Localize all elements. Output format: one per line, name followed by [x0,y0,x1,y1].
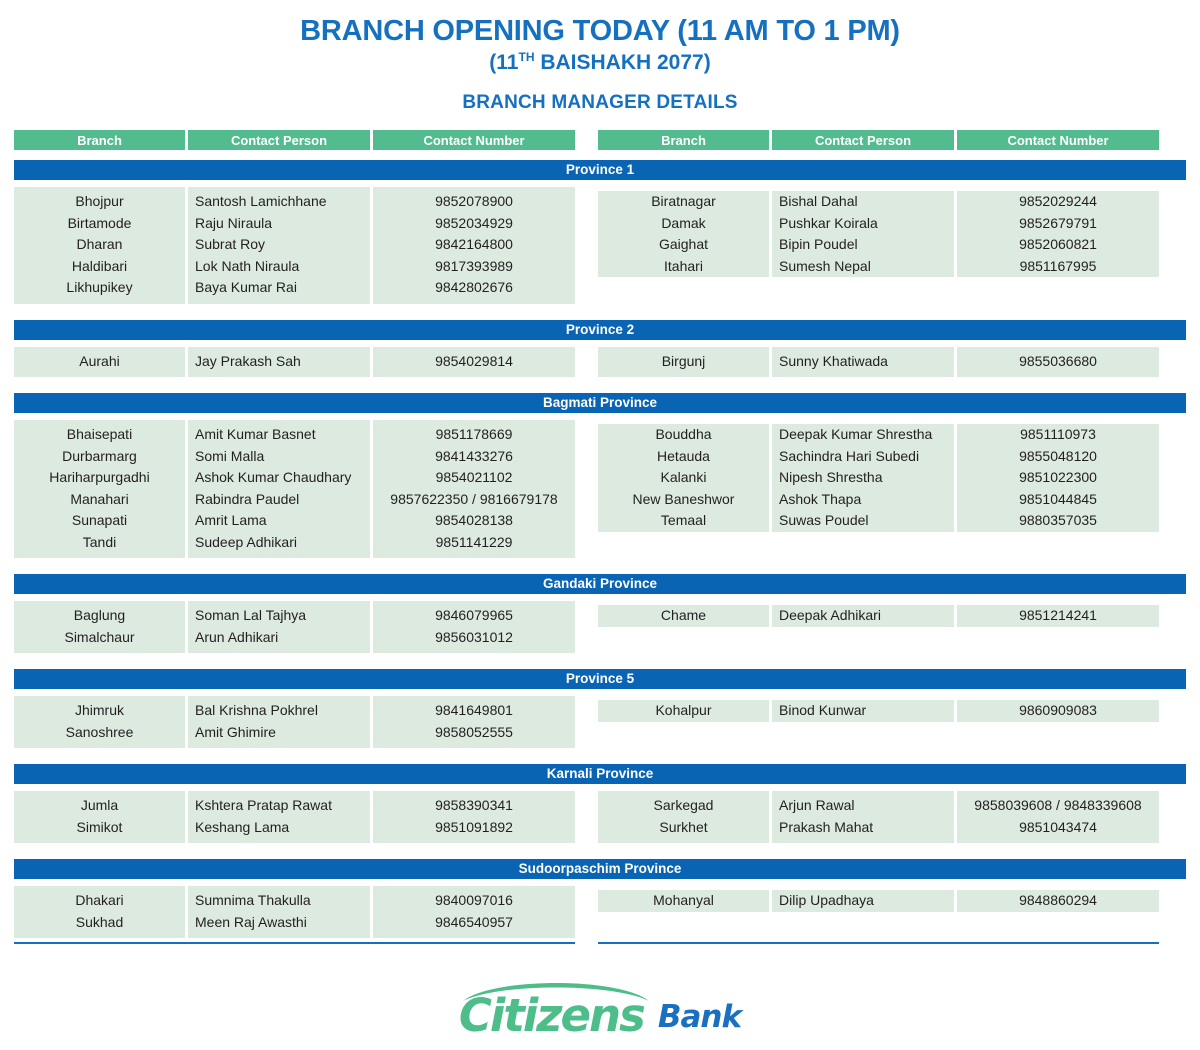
cell-branch: Temaal [598,510,769,532]
cell-contact-person: Deepak Kumar Shrestha [772,424,954,446]
table-column-contact-person: Binod Kunwar [772,696,954,748]
table-columns: JumlaSimikotKshtera Pratap RawatKeshang … [14,791,575,843]
province-block-right: Chame Deepak Adhikari 9851214241 [598,601,1159,659]
table-columns: AurahiJay Prakash Sah9854029814 [14,347,575,378]
cell-spacer [957,722,1159,744]
cell-contact-number: 9854021102 [373,467,575,489]
table-column-contact-number: 98460799659856031012 [373,601,575,653]
cell-contact-number: 9858390341 [373,795,575,817]
column-fill: Chame [598,605,769,627]
cell-branch: Likhupikey [14,277,185,299]
cell-branch: Kohalpur [598,700,769,722]
cell-contact-number: 9848860294 [957,890,1159,912]
table-header-row: Branch Contact Person Contact Number Bra… [14,130,1186,150]
cell-branch: Simalchaur [14,627,185,649]
table-columns: BhojpurBirtamodeDharanHaldibariLikhupike… [14,187,575,304]
subtitle-prefix: (11 [489,51,518,74]
cell-branch: Birtamode [14,213,185,235]
table-column-contact-person: Amit Kumar BasnetSomi MallaAshok Kumar C… [188,420,370,558]
column-fill: Bishal DahalPushkar KoiralaBipin PoudelS… [772,191,954,277]
table-column-branch: Chame [598,601,769,653]
column-header-contact-person: Contact Person [188,130,370,150]
table-column-contact-person: Santosh LamichhaneRaju NiraulaSubrat Roy… [188,187,370,304]
cell-contact-number: 9840097016 [373,890,575,912]
table-column-branch: BiratnagarDamakGaighatItahari [598,187,769,304]
cell-branch: Bhojpur [14,191,185,213]
cell-contact-number: 9841433276 [373,446,575,468]
cell-branch: Jumla [14,795,185,817]
logo-mark: Citizens [459,980,649,1036]
branch-manager-table: Branch Contact Person Contact Number Bra… [0,130,1200,944]
cell-branch: Manahari [14,489,185,511]
cell-branch: Haldibari [14,256,185,278]
cell-contact-person: Arun Adhikari [188,627,370,649]
column-header-branch: Branch [14,130,185,150]
province-block: BaglungSimalchaurSoman Lal TajhyaArun Ad… [14,601,1186,659]
cell-contact-number: 9842802676 [373,277,575,299]
footer: Citizens Bank [0,980,1200,1036]
province-banner: Province 5 [14,669,1186,689]
column-fill: Deepak Kumar ShresthaSachindra Hari Sube… [772,424,954,532]
cell-spacer [772,532,954,554]
province-block-left: BhaisepatiDurbarmargHariharpurgadhiManah… [14,420,575,564]
cell-contact-person: Pushkar Koirala [772,213,954,235]
cell-contact-person: Bipin Poudel [772,234,954,256]
table-column-contact-person: Bishal DahalPushkar KoiralaBipin PoudelS… [772,187,954,304]
table-columns: BirgunjSunny Khatiwada9855036680 [598,347,1159,378]
cell-spacer [957,627,1159,649]
cell-contact-person: Rabindra Paudel [188,489,370,511]
province-banner: Karnali Province [14,764,1186,784]
cell-contact-number: 9846079965 [373,605,575,627]
cell-contact-number: 9856031012 [373,627,575,649]
cell-contact-number: 9854028138 [373,510,575,532]
table-column-branch: DhakariSukhad [14,886,185,938]
cell-branch: Dhakari [14,890,185,912]
province-block-right: Mohanyal Dilip Upadhaya 9848860294 [598,886,1159,944]
column-fill: 9848860294 [957,890,1159,912]
cell-contact-person: Prakash Mahat [772,817,954,839]
province-banner: Sudoorpaschim Province [14,859,1186,879]
cell-contact-person: Arjun Rawal [772,795,954,817]
province-banner: Province 1 [14,160,1186,180]
cell-contact-person: Bishal Dahal [772,191,954,213]
table-columns: BaglungSimalchaurSoman Lal TajhyaArun Ad… [14,601,575,653]
cell-branch: Tandi [14,532,185,554]
table-column-contact-person: Dilip Upadhaya [772,886,954,938]
cell-contact-person: Somi Malla [188,446,370,468]
poster-header: BRANCH OPENING TODAY (11 AM TO 1 PM) (11… [0,0,1200,114]
cell-contact-person: Suwas Poudel [772,510,954,532]
cell-spacer [957,277,1159,299]
table-column-contact-number: 98416498019858052555 [373,696,575,748]
table-column-contact-number: 9852078900985203492998421648009817393989… [373,187,575,304]
subtitle-ordinal: th [518,50,534,64]
cell-spacer [598,277,769,299]
cell-spacer [598,912,769,934]
table-column-branch: Aurahi [14,347,185,378]
table-column-contact-number: 9848860294 [957,886,1159,938]
cell-contact-person: Keshang Lama [188,817,370,839]
table-column-contact-person: Jay Prakash Sah [188,347,370,378]
cell-branch: Kalanki [598,467,769,489]
cell-branch: Bhaisepati [14,424,185,446]
table-columns: Kohalpur Binod Kunwar 9860909083 [598,696,1159,748]
cell-branch: Damak [598,213,769,235]
cell-contact-person: Amit Kumar Basnet [188,424,370,446]
block-underline [14,942,575,944]
cell-contact-number: 9846540957 [373,912,575,934]
cell-contact-number: 9852078900 [373,191,575,213]
cell-branch: Durbarmarg [14,446,185,468]
province-block-right: BouddhaHetaudaKalankiNew BaneshworTemaal… [598,420,1159,564]
page-title: BRANCH OPENING TODAY (11 AM TO 1 PM) [0,14,1200,48]
province-block-left: AurahiJay Prakash Sah9854029814 [14,347,575,384]
cell-branch: Biratnagar [598,191,769,213]
province-banner: Bagmati Province [14,393,1186,413]
cell-contact-person: Subrat Roy [188,234,370,256]
table-column-contact-number: 98400970169846540957 [373,886,575,938]
column-fill: Dilip Upadhaya [772,890,954,912]
cell-contact-person: Sudeep Adhikari [188,532,370,554]
province-block-right: SarkegadSurkhetArjun RawalPrakash Mahat9… [598,791,1159,849]
column-fill: 9852029244985267979198520608219851167995 [957,191,1159,277]
table-column-contact-number: 9855036680 [957,347,1159,378]
table-columns: Chame Deepak Adhikari 9851214241 [598,601,1159,653]
cell-contact-number: 9855036680 [957,351,1159,373]
table-column-branch: BhaisepatiDurbarmargHariharpurgadhiManah… [14,420,185,558]
table-column-contact-person: Kshtera Pratap RawatKeshang Lama [188,791,370,843]
cell-branch: Sukhad [14,912,185,934]
table-columns: Mohanyal Dilip Upadhaya 9848860294 [598,886,1159,938]
cell-branch: Birgunj [598,351,769,373]
cell-branch: Surkhet [598,817,769,839]
cell-contact-number: 9851110973 [957,424,1159,446]
cell-spacer [772,627,954,649]
column-header-contact-person: Contact Person [772,130,954,150]
province-block: JhimrukSanoshreeBal Krishna PokhrelAmit … [14,696,1186,754]
cell-contact-person: Ashok Thapa [772,489,954,511]
column-fill: 9860909083 [957,700,1159,722]
table-column-branch: Kohalpur [598,696,769,748]
cell-branch: Gaighat [598,234,769,256]
cell-contact-number: 9817393989 [373,256,575,278]
cell-contact-number: 9851178669 [373,424,575,446]
cell-spacer [957,912,1159,934]
cell-branch: Hetauda [598,446,769,468]
table-column-contact-person: Arjun RawalPrakash Mahat [772,791,954,843]
province-banner: Gandaki Province [14,574,1186,594]
branch-opening-poster: BRANCH OPENING TODAY (11 AM TO 1 PM) (11… [0,0,1200,1050]
cell-contact-number: 9851091892 [373,817,575,839]
column-fill: Kohalpur [598,700,769,722]
cell-contact-person: Meen Raj Awasthi [188,912,370,934]
cell-contact-number: 9851167995 [957,256,1159,278]
cell-spacer [598,722,769,744]
cell-contact-number: 9851214241 [957,605,1159,627]
cell-contact-number: 9852679791 [957,213,1159,235]
province-block: BhojpurBirtamodeDharanHaldibariLikhupike… [14,187,1186,310]
table-columns: BiratnagarDamakGaighatItahari Bishal Dah… [598,187,1159,304]
cell-contact-number: 9852034929 [373,213,575,235]
cell-branch: Baglung [14,605,185,627]
cell-contact-number: 9842164800 [373,234,575,256]
column-fill: BiratnagarDamakGaighatItahari [598,191,769,277]
cell-contact-person: Deepak Adhikari [772,605,954,627]
cell-branch: Jhimruk [14,700,185,722]
cell-branch: Chame [598,605,769,627]
table-column-branch: JumlaSimikot [14,791,185,843]
cell-branch: Sanoshree [14,722,185,744]
table-column-contact-number: 9858039608 / 98483396089851043474 [957,791,1159,843]
cell-contact-person: Amrit Lama [188,510,370,532]
table-column-contact-person: Sunny Khatiwada [772,347,954,378]
cell-contact-person: Raju Niraula [188,213,370,235]
province-block-right: Kohalpur Binod Kunwar 9860909083 [598,696,1159,754]
province-block-left: BaglungSimalchaurSoman Lal TajhyaArun Ad… [14,601,575,659]
cell-branch: Sunapati [14,510,185,532]
cell-branch: Dharan [14,234,185,256]
cell-contact-number: 9858052555 [373,722,575,744]
column-fill: 9851214241 [957,605,1159,627]
cell-contact-person: Sumesh Nepal [772,256,954,278]
table-column-contact-person: Deepak Kumar ShresthaSachindra Hari Sube… [772,420,954,558]
table-column-contact-person: Deepak Adhikari [772,601,954,653]
province-block: DhakariSukhadSumnima ThakullaMeen Raj Aw… [14,886,1186,944]
cell-spacer [772,912,954,934]
cell-contact-person: Lok Nath Niraula [188,256,370,278]
cell-spacer [957,532,1159,554]
table-columns: BouddhaHetaudaKalankiNew BaneshworTemaal… [598,420,1159,558]
table-columns: DhakariSukhadSumnima ThakullaMeen Raj Aw… [14,886,575,938]
column-fill: Deepak Adhikari [772,605,954,627]
subtitle-suffix: BAISHAKH 2077) [534,51,710,74]
column-fill: 9851110973985504812098510223009851044845… [957,424,1159,532]
cell-contact-person: Jay Prakash Sah [188,351,370,373]
cell-contact-person: Sumnima Thakulla [188,890,370,912]
table-column-branch: Mohanyal [598,886,769,938]
cell-branch: Mohanyal [598,890,769,912]
cell-contact-person: Soman Lal Tajhya [188,605,370,627]
cell-contact-number: 9854029814 [373,351,575,373]
cell-contact-number: 9852060821 [957,234,1159,256]
column-fill: Binod Kunwar [772,700,954,722]
table-column-branch: JhimrukSanoshree [14,696,185,748]
cell-contact-person: Nipesh Shrestha [772,467,954,489]
logo-wordmark: Citizens [459,993,644,1038]
page-subtitle: (11th BAISHAKH 2077) [0,50,1200,75]
table-header-left: Branch Contact Person Contact Number [14,130,575,150]
table-columns: JhimrukSanoshreeBal Krishna PokhrelAmit … [14,696,575,748]
cell-contact-number: 9851022300 [957,467,1159,489]
column-header-contact-number: Contact Number [373,130,575,150]
cell-spacer [598,532,769,554]
province-block-left: DhakariSukhadSumnima ThakullaMeen Raj Aw… [14,886,575,944]
table-column-contact-number: 9851178669984143327698540211029857622350… [373,420,575,558]
cell-contact-person: Kshtera Pratap Rawat [188,795,370,817]
cell-contact-person: Amit Ghimire [188,722,370,744]
province-sections: Province 1BhojpurBirtamodeDharanHaldibar… [14,160,1186,944]
cell-contact-person: Baya Kumar Rai [188,277,370,299]
province-block-right: BirgunjSunny Khatiwada9855036680 [598,347,1159,384]
cell-contact-person: Bal Krishna Pokhrel [188,700,370,722]
cell-spacer [772,277,954,299]
cell-branch: Simikot [14,817,185,839]
cell-spacer [598,627,769,649]
column-fill: Mohanyal [598,890,769,912]
province-block: AurahiJay Prakash Sah9854029814BirgunjSu… [14,347,1186,384]
table-column-contact-number: 9854029814 [373,347,575,378]
province-block-right: BiratnagarDamakGaighatItahari Bishal Dah… [598,187,1159,310]
citizens-bank-logo: Citizens Bank [459,980,741,1036]
table-column-branch: BaglungSimalchaur [14,601,185,653]
cell-contact-number: 9857622350 / 9816679178 [373,489,575,511]
cell-contact-number: 9841649801 [373,700,575,722]
logo-bank-text: Bank [658,1002,741,1036]
cell-branch: Bouddha [598,424,769,446]
column-header-branch: Branch [598,130,769,150]
cell-branch: Sarkegad [598,795,769,817]
table-column-contact-number: 9851214241 [957,601,1159,653]
cell-contact-person: Santosh Lamichhane [188,191,370,213]
cell-branch: Itahari [598,256,769,278]
block-underline [598,942,1159,944]
column-fill: BouddhaHetaudaKalankiNew BaneshworTemaal [598,424,769,532]
table-column-contact-number: 9852029244985267979198520608219851167995 [957,187,1159,304]
province-block: BhaisepatiDurbarmargHariharpurgadhiManah… [14,420,1186,564]
cell-branch: Hariharpurgadhi [14,467,185,489]
cell-contact-number: 9858039608 / 9848339608 [957,795,1159,817]
table-column-branch: SarkegadSurkhet [598,791,769,843]
cell-contact-number: 9852029244 [957,191,1159,213]
table-column-contact-number: 9860909083 [957,696,1159,748]
cell-contact-person: Sachindra Hari Subedi [772,446,954,468]
section-title: BRANCH MANAGER DETAILS [0,92,1200,114]
cell-contact-person: Sunny Khatiwada [772,351,954,373]
cell-branch: Aurahi [14,351,185,373]
table-column-contact-person: Soman Lal TajhyaArun Adhikari [188,601,370,653]
province-banner: Province 2 [14,320,1186,340]
column-header-contact-number: Contact Number [957,130,1159,150]
table-column-branch: BhojpurBirtamodeDharanHaldibariLikhupike… [14,187,185,304]
table-column-contact-person: Bal Krishna PokhrelAmit Ghimire [188,696,370,748]
province-block-left: BhojpurBirtamodeDharanHaldibariLikhupike… [14,187,575,310]
table-column-branch: Birgunj [598,347,769,378]
cell-contact-person: Dilip Upadhaya [772,890,954,912]
cell-contact-number: 9851141229 [373,532,575,554]
table-column-contact-number: 9851110973985504812098510223009851044845… [957,420,1159,558]
cell-contact-number: 9851043474 [957,817,1159,839]
cell-contact-person: Binod Kunwar [772,700,954,722]
cell-spacer [772,722,954,744]
table-columns: BhaisepatiDurbarmargHariharpurgadhiManah… [14,420,575,558]
table-columns: SarkegadSurkhetArjun RawalPrakash Mahat9… [598,791,1159,843]
province-block-left: JumlaSimikotKshtera Pratap RawatKeshang … [14,791,575,849]
province-block: JumlaSimikotKshtera Pratap RawatKeshang … [14,791,1186,849]
table-column-contact-person: Sumnima ThakullaMeen Raj Awasthi [188,886,370,938]
table-column-contact-number: 98583903419851091892 [373,791,575,843]
cell-contact-number: 9880357035 [957,510,1159,532]
table-column-branch: BouddhaHetaudaKalankiNew BaneshworTemaal [598,420,769,558]
cell-contact-number: 9860909083 [957,700,1159,722]
cell-contact-number: 9855048120 [957,446,1159,468]
cell-contact-number: 9851044845 [957,489,1159,511]
cell-branch: New Baneshwor [598,489,769,511]
table-header-right: Branch Contact Person Contact Number [598,130,1159,150]
cell-contact-person: Ashok Kumar Chaudhary [188,467,370,489]
province-block-left: JhimrukSanoshreeBal Krishna PokhrelAmit … [14,696,575,754]
